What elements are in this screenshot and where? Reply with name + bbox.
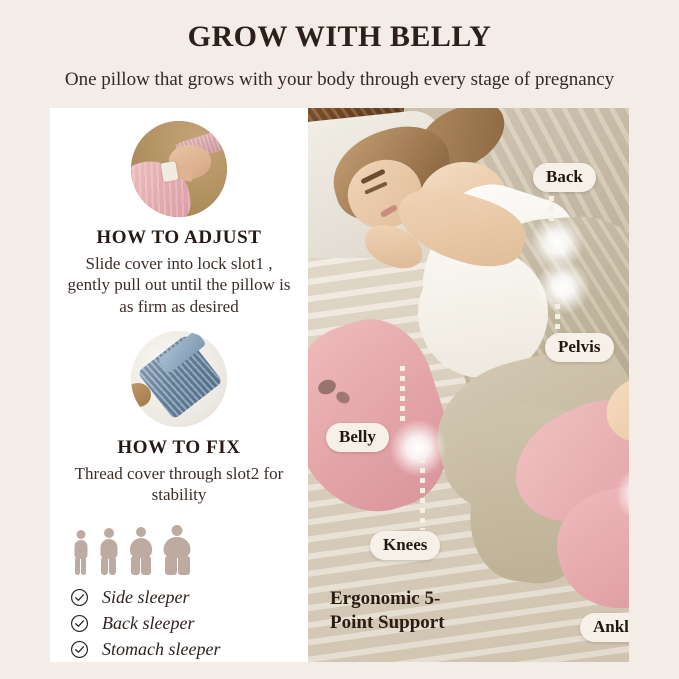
check-circle-icon	[70, 614, 89, 633]
how-to-fix-body: Thread cover through slot2 for stability	[50, 463, 308, 506]
body-size-silhouettes	[50, 523, 308, 575]
how-to-fix-block: HOW TO FIX Thread cover through slot2 fo…	[50, 317, 308, 506]
lifestyle-photo: Ergonomic 5-Point Support BackPelvisBell…	[308, 108, 629, 662]
silhouette-3	[128, 527, 153, 575]
support-label-knees: Knees	[370, 531, 440, 560]
support-label-pelvis: Pelvis	[545, 333, 614, 362]
sleeper-type-checklist: Side sleeperBack sleeperStomach sleeperC…	[50, 587, 308, 662]
checklist-label: Side sleeper	[102, 587, 189, 608]
silhouette-1	[72, 530, 89, 575]
how-to-adjust-block: HOW TO ADJUST Slide cover into lock slot…	[50, 108, 308, 317]
connector-dots-belly	[400, 366, 405, 422]
content-card: HOW TO ADJUST Slide cover into lock slot…	[50, 108, 629, 662]
connector-dots-back	[549, 196, 554, 226]
checklist-item: Back sleeper	[70, 613, 308, 634]
instructions-column: HOW TO ADJUST Slide cover into lock slot…	[50, 108, 308, 662]
page-title: GROW WITH BELLY	[0, 20, 679, 54]
how-to-adjust-body: Slide cover into lock slot1 , gently pul…	[50, 253, 308, 317]
silhouette-2	[98, 528, 119, 575]
check-circle-icon	[70, 640, 89, 659]
fix-photo	[131, 331, 227, 427]
adjust-photo	[131, 121, 227, 217]
ergonomic-caption: Ergonomic 5-Point Support	[330, 587, 445, 636]
header: GROW WITH BELLY One pillow that grows wi…	[0, 0, 679, 91]
page-subtitle: One pillow that grows with your body thr…	[0, 69, 679, 91]
support-label-belly: Belly	[326, 423, 389, 452]
connector-dots-pelvis	[555, 304, 560, 332]
checklist-label: Back sleeper	[102, 613, 194, 634]
checklist-item: Stomach sleeper	[70, 639, 308, 660]
support-label-back: Back	[533, 163, 596, 192]
checklist-label: Stomach sleeper	[102, 639, 220, 660]
how-to-adjust-title: HOW TO ADJUST	[50, 227, 308, 249]
how-to-fix-title: HOW TO FIX	[50, 437, 308, 459]
checklist-item: Side sleeper	[70, 587, 308, 608]
support-label-ankles: Ankles	[580, 613, 629, 642]
silhouette-4	[162, 525, 192, 575]
check-circle-icon	[70, 588, 89, 607]
connector-dots-knees	[420, 458, 425, 530]
infographic-root: GROW WITH BELLY One pillow that grows wi…	[0, 0, 679, 679]
